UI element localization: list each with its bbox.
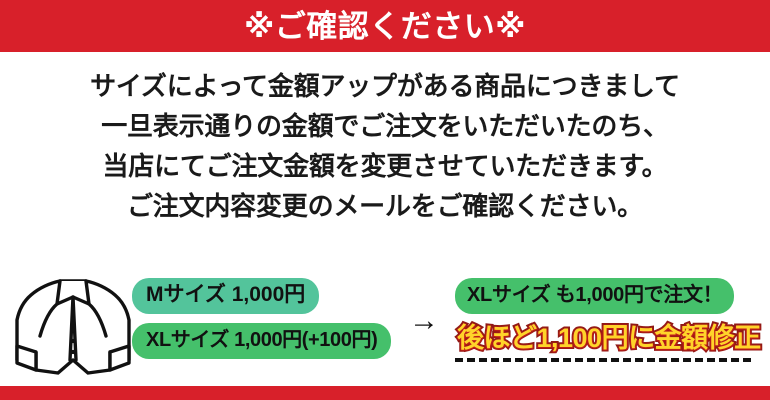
- after-price-group: XLサイズ も1,000円で注文！ 後ほど1,100円に金額修正: [455, 278, 765, 362]
- price-correction-emphasis: 後ほど1,100円に金額修正: [455, 321, 765, 355]
- notice-line-2: 一旦表示通りの金額でご注文をいただいたのち、: [0, 106, 770, 146]
- notice-line-3: 当店にてご注文金額を変更させていただきます。: [0, 146, 770, 186]
- header-bar: ※ご確認ください※: [0, 0, 770, 52]
- dress-shirt-icon: [14, 274, 132, 378]
- badge-size-m-price: Mサイズ 1,000円: [132, 278, 319, 314]
- dashed-underline: [455, 358, 751, 362]
- notice-paragraph: サイズによって金額アップがある商品につきまして 一旦表示通りの金額でご注文をいた…: [0, 66, 770, 226]
- price-comparison-row: Mサイズ 1,000円 XLサイズ 1,000円(+100円) → XLサイズ …: [0, 268, 770, 380]
- badge-size-xl-price: XLサイズ 1,000円(+100円): [132, 323, 391, 359]
- notice-line-4: ご注文内容変更のメールをご確認ください。: [0, 186, 770, 226]
- notice-banner-canvas: ※ご確認ください※ サイズによって金額アップがある商品につきまして 一旦表示通り…: [0, 0, 770, 400]
- page-title: ※ご確認ください※: [244, 11, 526, 42]
- arrow-right-icon: →: [400, 306, 448, 336]
- before-price-group: Mサイズ 1,000円 XLサイズ 1,000円(+100円): [132, 278, 394, 359]
- badge-order-xl-same-price: XLサイズ も1,000円で注文！: [455, 278, 734, 314]
- footer-bar: [0, 386, 770, 400]
- notice-line-1: サイズによって金額アップがある商品につきまして: [0, 66, 770, 106]
